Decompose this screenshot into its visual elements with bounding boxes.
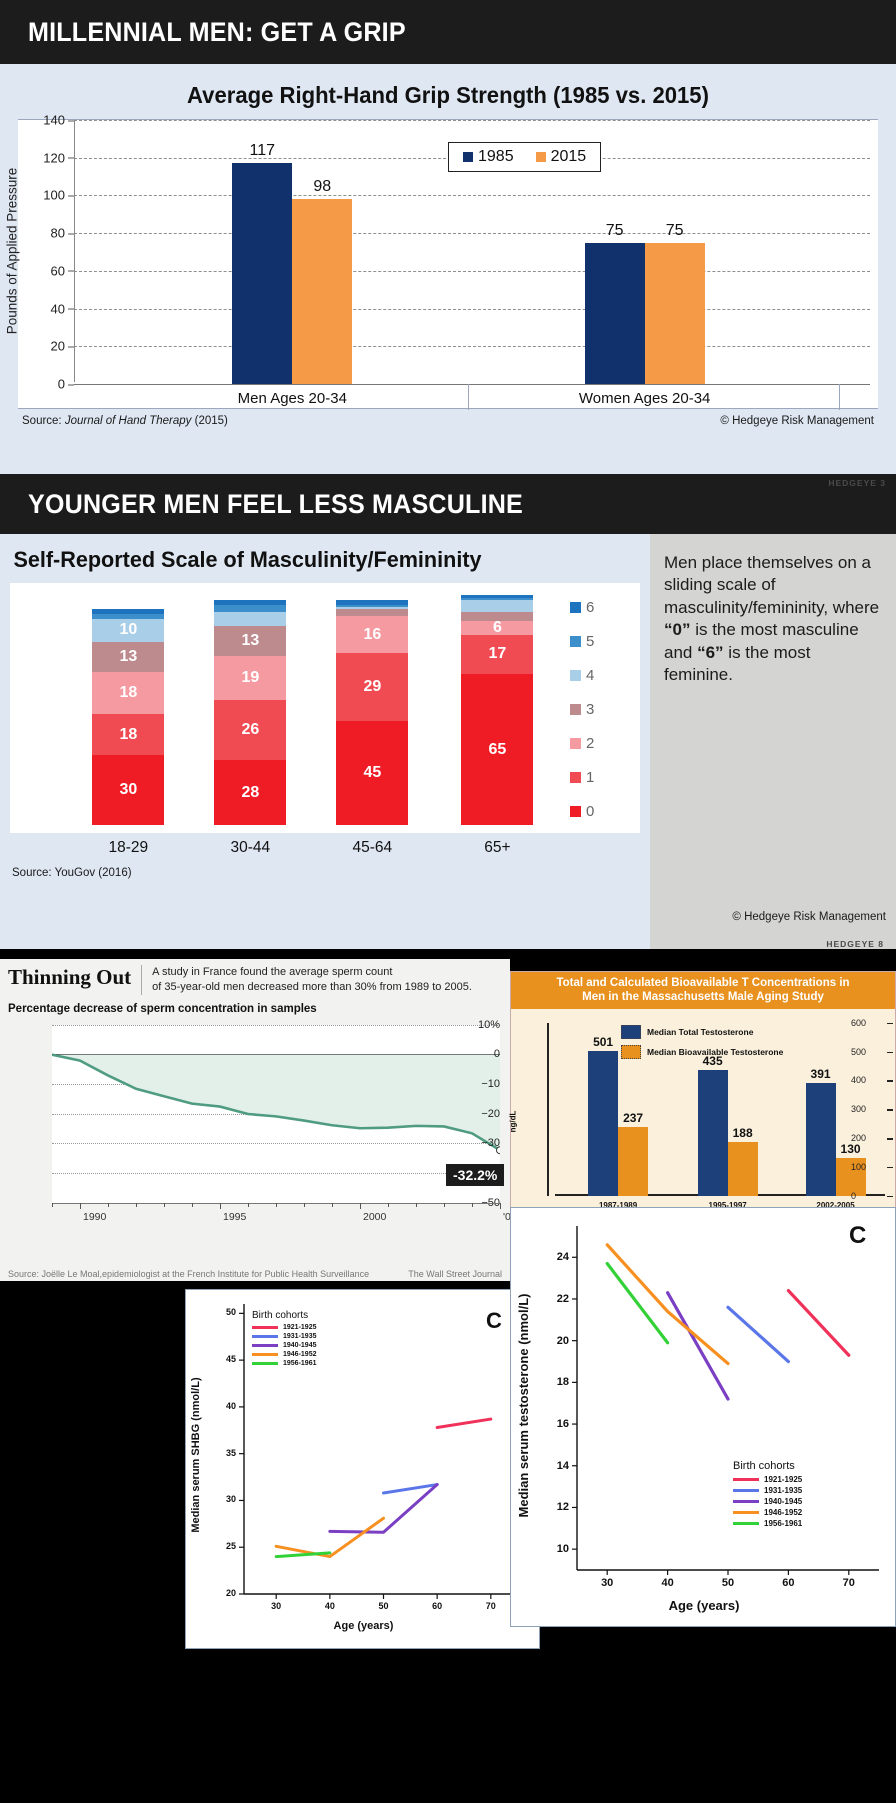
wsj-y-tick: 0: [458, 1048, 500, 1060]
wsj-x-minortick: [108, 1203, 109, 1207]
panelC1-legend-label-1921-1925: 1921-1925: [283, 1324, 316, 1331]
wsj-y-tick: −10: [458, 1078, 500, 1090]
wsj-x-tick-2000: 2000: [363, 1211, 386, 1223]
masculinity-x-labels: 18-2930-4445-6465+: [0, 833, 650, 867]
panelC1-y-axis-title: Median serum SHBG (nmol/L): [190, 1377, 202, 1532]
source-year: (2015): [195, 415, 228, 427]
panelC2-y-axis-title: Median serum testosterone (nmol/L): [516, 1294, 531, 1518]
wsj-x-tickmark: [360, 1203, 361, 1209]
stack-seg-label: 16: [363, 626, 381, 644]
mass-legend-item-1: Median Bioavailable Testosterone: [621, 1045, 783, 1059]
grip-y-tick: 80: [21, 226, 65, 241]
wsj-x-tickmark: [220, 1203, 221, 1209]
panelC2-legend-line-1931-1935: [733, 1489, 759, 1492]
mass-plot-area: 5012374351883911300100200300400500600198…: [511, 1009, 895, 1234]
stack-seg-label: 28: [241, 784, 259, 802]
legend-label-2: 2: [586, 735, 594, 752]
stack-column-30-44: 13192628: [214, 600, 286, 825]
stack-column-18-29: 1013181830: [92, 609, 164, 825]
slide2-title-band: YOUNGER MEN FEEL LESS MASCULINE HEDGEYE …: [0, 474, 896, 534]
grid-line: [74, 271, 870, 272]
wsj-deck: A study in France found the average sper…: [141, 965, 472, 995]
mass-bar-0-0: [588, 1051, 618, 1195]
mass-bar-0-1: [698, 1070, 728, 1195]
wsj-x-minortick: [248, 1203, 249, 1207]
stack-seg-18-29-1: 18: [92, 714, 164, 756]
mass-legend-swatch-1: [621, 1045, 641, 1059]
stack-seg-30-44-1: 26: [214, 700, 286, 760]
legend-item-2015: 2015: [536, 148, 587, 166]
masculinity-x-label-30-44: 30-44: [231, 839, 271, 857]
slide2-note-text: Men place themselves on a sliding scale …: [664, 552, 884, 687]
stack-column-65+: 61765: [461, 595, 533, 825]
wsj-x-tickmark: [80, 1203, 81, 1209]
mass-bar-label: 391: [811, 1067, 831, 1081]
stack-seg-45-64-2: 16: [336, 616, 408, 653]
stack-seg-65+-4: [461, 600, 533, 612]
wsj-y-tick: −20: [458, 1108, 500, 1120]
wsj-deck-line1: A study in France found the average sper…: [152, 965, 472, 980]
slide3-composite: HEDGEYE 8 Thinning Out A study in France…: [0, 949, 896, 1803]
wsj-x-minortick: [192, 1203, 193, 1207]
note-part-0: Men place themselves on a sliding scale …: [664, 553, 879, 617]
panelC1-legend: Birth cohorts1921-19251931-19351940-1945…: [252, 1310, 316, 1369]
wsj-x-minortick: [304, 1203, 305, 1207]
mass-y-tick-100: 100: [851, 1162, 885, 1172]
mass-title-line1: Total and Calculated Bioavailable T Conc…: [517, 976, 889, 990]
mass-legend-item-0: Median Total Testosterone: [621, 1025, 783, 1039]
slide1-title-band: MILLENNIAL MEN: GET A GRIP: [0, 0, 896, 64]
stack-seg-45-64-0: 45: [336, 721, 408, 825]
legend-item-4: 4: [570, 667, 594, 684]
stack-seg-30-44-0: 28: [214, 760, 286, 825]
slide1-source: Source: Journal of Hand Therapy (2015): [22, 415, 228, 427]
panelC2-legend-label-1931-1935: 1931-1935: [764, 1486, 802, 1495]
wsj-x-minortick: [136, 1203, 137, 1207]
stack-seg-label: 18: [119, 684, 137, 702]
stack-seg-label: 29: [363, 678, 381, 696]
grip-x-axis-line: [74, 384, 870, 385]
wsj-plot-area: 10%0−10−20−30−40−50199019952000'05-32.2%: [6, 1021, 504, 1239]
stack-column-45-64: 162945: [336, 600, 408, 825]
legend-swatch-0: [570, 806, 581, 817]
panelC2-legend-label-1956-1961: 1956-1961: [764, 1519, 802, 1528]
wsj-header: Thinning Out A study in France found the…: [0, 959, 510, 999]
grip-y-tick: 60: [21, 263, 65, 278]
legend-swatch-4: [570, 670, 581, 681]
legend-swatch-1: [570, 772, 581, 783]
mass-bar-1-0: [618, 1127, 648, 1195]
stack-seg-label: 13: [119, 648, 137, 666]
stack-seg-label: 17: [488, 645, 506, 663]
grip-legend: 19852015: [448, 142, 601, 172]
grip-x-label-1: Women Ages 20-34: [579, 390, 710, 407]
wsj-thinning-out-chart: Thinning Out A study in France found the…: [0, 959, 510, 1281]
panelC2-legend-line-1946-1952: [733, 1511, 759, 1514]
mass-bar-label: 237: [623, 1111, 643, 1125]
grid-line: [74, 120, 870, 121]
panelC2-legend: Birth cohorts1921-19251931-19351940-1945…: [733, 1460, 802, 1530]
legend-label-0: 0: [586, 803, 594, 820]
legend-label-1985: 1985: [478, 148, 514, 166]
grid-line: [74, 233, 870, 234]
panelC2-legend-label-1940-1945: 1940-1945: [764, 1497, 802, 1506]
note-part-1: “0”: [664, 620, 690, 639]
panelC1-legend-item-1956-1961: 1956-1961: [252, 1360, 316, 1367]
panelC1-legend-item-1931-1935: 1931-1935: [252, 1333, 316, 1340]
wsj-x-minortick: [388, 1203, 389, 1207]
mass-legend-label-1: Median Bioavailable Testosterone: [647, 1047, 783, 1057]
panelC2-series-1940-1945: [668, 1293, 728, 1399]
stack-seg-18-29-0: 30: [92, 755, 164, 825]
wsj-source-left: Source: Joëlle Le Moal,epidemiologist at…: [8, 1269, 369, 1279]
wsj-x-minortick: [276, 1203, 277, 1207]
mass-legend-swatch-0: [621, 1025, 641, 1039]
source-journal: Journal of Hand Therapy: [65, 415, 192, 427]
panelC2-svg: [511, 1208, 896, 1628]
stack-seg-65+-1: 17: [461, 635, 533, 674]
legend-swatch-3: [570, 704, 581, 715]
testosterone-panel-c: 10121416182022243040506070CMedian serum …: [510, 1207, 896, 1627]
wsj-deck-line2: of 35-year-old men decreased more than 3…: [152, 980, 472, 995]
mass-bar-label: 130: [841, 1142, 861, 1156]
panelC1-legend-line-1940-1945: [252, 1344, 278, 1347]
wsj-x-tick-1995: 1995: [223, 1211, 246, 1223]
grip-y-tick: 40: [21, 301, 65, 316]
legend-swatch-2: [570, 738, 581, 749]
panelC1-legend-line-1946-1952: [252, 1353, 278, 1356]
mass-y-tick-200: 200: [851, 1133, 885, 1143]
panelC1-legend-line-1921-1925: [252, 1326, 278, 1329]
grip-bar-1985-0: [232, 163, 292, 384]
stack-seg-45-64-1: 29: [336, 653, 408, 720]
masculinity-stacked-chart: 101318183013192628162945617656543210: [10, 583, 640, 833]
legend-label-4: 4: [586, 667, 594, 684]
legend-label-6: 6: [586, 599, 594, 616]
legend-item-1985: 1985: [463, 148, 514, 166]
stack-seg-30-44-2: 19: [214, 656, 286, 700]
panelC2-x-axis-title: Age (years): [511, 1598, 896, 1613]
grid-line: [74, 195, 870, 196]
legend-swatch-2015: [536, 152, 546, 162]
grip-bar-label: 98: [313, 178, 331, 196]
grip-bar-label: 75: [666, 222, 684, 240]
slide2-page-tag: HEDGEYE 8: [826, 939, 884, 949]
grip-axis-separator: [468, 384, 469, 410]
slide2-copyright: © Hedgeye Risk Management: [732, 911, 886, 923]
slide1-copyright: © Hedgeye Risk Management: [720, 415, 874, 427]
panelC1-legend-label-1940-1945: 1940-1945: [283, 1342, 316, 1349]
wsj-x-tick-1990: 1990: [83, 1211, 106, 1223]
stack-seg-18-29-2: 18: [92, 672, 164, 714]
grip-y-tick: 100: [21, 188, 65, 203]
legend-item-3: 3: [570, 701, 594, 718]
wsj-x-minortick: [52, 1203, 53, 1207]
grip-bar-label: 117: [250, 142, 276, 160]
grip-y-axis: Pounds of Applied Pressure02040608010012…: [18, 120, 74, 382]
stack-seg-30-44-4: [214, 612, 286, 626]
source-label: Source:: [22, 415, 62, 427]
slide1-source-row: Source: Journal of Hand Therapy (2015) ©…: [10, 409, 886, 431]
wsj-x-minortick: [472, 1203, 473, 1207]
stack-seg-65+-0: 65: [461, 674, 533, 825]
mass-bar-0-2: [806, 1083, 836, 1196]
grip-y-tick: 140: [21, 113, 65, 128]
panelC2-series-1931-1935: [728, 1307, 788, 1361]
panelC1-legend-label-1956-1961: 1956-1961: [283, 1360, 316, 1367]
mass-legend: Median Total TestosteroneMedian Bioavail…: [621, 1025, 783, 1065]
stack-seg-label: 19: [241, 669, 259, 687]
wsj-x-minortick: [332, 1203, 333, 1207]
panelC2-legend-title: Birth cohorts: [733, 1460, 802, 1472]
panelC1-legend-item-1940-1945: 1940-1945: [252, 1342, 316, 1349]
legend-label-2015: 2015: [551, 148, 587, 166]
wsj-end-callout: -32.2%: [446, 1164, 504, 1186]
panelC2-legend-line-1940-1945: [733, 1500, 759, 1503]
shbg-panel-c: 202530354045503040506070CMedian serum SH…: [185, 1289, 540, 1649]
slide2-source-row: Source: YouGov (2016): [0, 867, 650, 879]
legend-swatch-6: [570, 602, 581, 613]
wsj-area-series: [52, 1025, 500, 1203]
grip-y-tick: 120: [21, 150, 65, 165]
stack-seg-label: 13: [241, 632, 259, 650]
slide1-chart-title: Average Right-Hand Grip Strength (1985 v…: [28, 64, 869, 119]
wsj-x-minortick: [444, 1203, 445, 1207]
panelC2-legend-label-1946-1952: 1946-1952: [764, 1508, 802, 1517]
panelC1-panel-label: C: [486, 1308, 502, 1334]
wsj-y-tick: −30: [458, 1137, 500, 1149]
panelC2-legend-item-1921-1925: 1921-1925: [733, 1475, 802, 1484]
legend-item-2: 2: [570, 735, 594, 752]
panelC1-legend-title: Birth cohorts: [252, 1310, 316, 1321]
stack-seg-30-44-5: [214, 605, 286, 612]
mass-y-tick-400: 400: [851, 1075, 885, 1085]
masculinity-legend: 6543210: [570, 597, 616, 823]
grip-bar-2015-0: [292, 199, 352, 384]
wsj-headline: Thinning Out: [8, 965, 141, 990]
panelC1-legend-item-1921-1925: 1921-1925: [252, 1324, 316, 1331]
legend-label-5: 5: [586, 633, 594, 650]
panelC1-legend-item-1946-1952: 1946-1952: [252, 1351, 316, 1358]
masculinity-x-label-65+: 65+: [484, 839, 510, 857]
grip-strength-chart: Pounds of Applied Pressure02040608010012…: [18, 119, 878, 409]
mass-y-tick-0: 0: [851, 1191, 885, 1201]
grip-bar-1985-1: [585, 243, 645, 384]
slide2-chart-panel: Self-Reported Scale of Masculinity/Femin…: [0, 534, 650, 949]
mass-legend-label-0: Median Total Testosterone: [647, 1027, 753, 1037]
wsj-source-right: The Wall Street Journal: [408, 1269, 502, 1279]
mass-bar-label: 188: [733, 1126, 753, 1140]
wsj-x-tickmark: [500, 1203, 501, 1209]
mass-y-tick-600: 600: [851, 1018, 885, 1028]
grip-bar-label: 75: [606, 222, 624, 240]
panelC2-legend-item-1931-1935: 1931-1935: [733, 1486, 802, 1495]
grid-line: [74, 346, 870, 347]
mass-bar-label: 501: [593, 1035, 613, 1049]
legend-label-3: 3: [586, 701, 594, 718]
panelC1-legend-label-1931-1935: 1931-1935: [283, 1333, 316, 1340]
panelC1-svg: [186, 1290, 541, 1650]
wsj-axis-area: [52, 1025, 500, 1203]
slide2-chart-title: Self-Reported Scale of Masculinity/Femin…: [0, 534, 624, 583]
stack-seg-label: 10: [119, 621, 137, 639]
panelC1-x-axis-title: Age (years): [186, 1620, 541, 1632]
panelC1-legend-line-1956-1961: [252, 1362, 278, 1365]
wsj-subtitle: Percentage decrease of sperm concentrati…: [0, 999, 510, 1019]
stack-seg-45-64-3: [336, 609, 408, 616]
wsj-source-row: Source: Joëlle Le Moal,epidemiologist at…: [0, 1269, 510, 1279]
slide2-source: Source: YouGov (2016): [12, 867, 132, 879]
slide2-note-panel: Men place themselves on a sliding scale …: [650, 534, 896, 949]
panelC2-legend-item-1946-1952: 1946-1952: [733, 1508, 802, 1517]
grip-y-axis-title: Pounds of Applied Pressure: [5, 168, 20, 335]
wsj-x-minortick: [416, 1203, 417, 1207]
masculinity-x-label-18-29: 18-29: [109, 839, 149, 857]
grip-x-label-0: Men Ages 20-34: [238, 390, 347, 407]
stack-seg-30-44-3: 13: [214, 626, 286, 656]
stack-seg-label: 65: [488, 741, 506, 759]
panelC2-legend-item-1956-1961: 1956-1961: [733, 1519, 802, 1528]
slide2-masculinity: Self-Reported Scale of Masculinity/Femin…: [0, 534, 896, 949]
panelC2-series-1946-1952: [607, 1245, 728, 1364]
panelC1-legend-line-1931-1935: [252, 1335, 278, 1338]
masculinity-x-label-45-64: 45-64: [353, 839, 393, 857]
legend-item-0: 0: [570, 803, 594, 820]
mass-y-tick-300: 300: [851, 1104, 885, 1114]
legend-item-5: 5: [570, 633, 594, 650]
legend-item-1: 1: [570, 769, 594, 786]
note-part-3: “6”: [697, 643, 723, 662]
panelC1-series-1946-1952: [276, 1518, 383, 1556]
mass-y-axis-line: [547, 1023, 549, 1196]
stack-seg-label: 26: [241, 721, 259, 739]
stack-seg-label: 18: [119, 726, 137, 744]
stack-seg-label: 30: [119, 781, 137, 799]
mass-title: Total and Calculated Bioavailable T Conc…: [511, 972, 895, 1009]
grip-y-axis-line: [74, 120, 75, 382]
panelC2-legend-item-1940-1945: 1940-1945: [733, 1497, 802, 1506]
mass-y-tick-500: 500: [851, 1047, 885, 1057]
stack-seg-65+-2: 6: [461, 621, 533, 635]
grip-bar-2015-1: [645, 243, 705, 384]
panelC1-legend-label-1946-1952: 1946-1952: [283, 1351, 316, 1358]
grip-y-tick: 20: [21, 339, 65, 354]
panelC2-legend-label-1921-1925: 1921-1925: [764, 1475, 802, 1484]
panelC2-legend-line-1956-1961: [733, 1522, 759, 1525]
slide1-band-title: MILLENNIAL MEN: GET A GRIP: [28, 17, 406, 48]
grip-axis-separator-right: [839, 384, 840, 410]
slide1-page-tag: HEDGEYE 3: [828, 478, 886, 488]
stack-seg-18-29-3: 13: [92, 642, 164, 672]
grip-y-tick: 0: [21, 377, 65, 392]
slide2-band-title: YOUNGER MEN FEEL LESS MASCULINE: [28, 489, 523, 520]
grid-line: [74, 309, 870, 310]
stack-seg-18-29-4: 10: [92, 619, 164, 642]
panelC2-legend-line-1921-1925: [733, 1478, 759, 1481]
stack-seg-label: 45: [363, 764, 381, 782]
panelC2-series-1921-1925: [788, 1291, 848, 1356]
legend-swatch-5: [570, 636, 581, 647]
slide1-grip-strength: Average Right-Hand Grip Strength (1985 v…: [0, 64, 896, 474]
legend-swatch-1985: [463, 152, 473, 162]
mass-title-line2: Men in the Massachusetts Male Aging Stud…: [517, 990, 889, 1004]
panelC1-series-1921-1925: [437, 1419, 491, 1427]
wsj-y-tick: 10%: [458, 1019, 500, 1031]
wsj-x-minortick: [164, 1203, 165, 1207]
panelC2-panel-label: C: [849, 1222, 866, 1250]
mass-bar-1-1: [728, 1142, 758, 1196]
mass-y-axis-title: ng/dL: [509, 1110, 518, 1132]
legend-item-6: 6: [570, 599, 594, 616]
legend-label-1: 1: [586, 769, 594, 786]
